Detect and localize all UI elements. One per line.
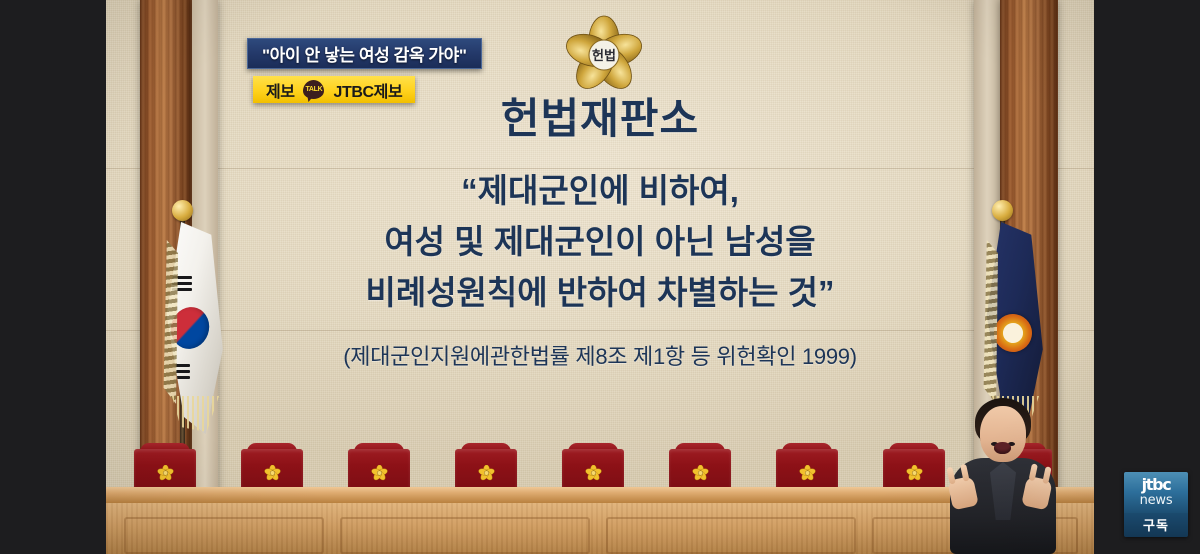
flag-finial	[992, 200, 1013, 221]
chair-emblem-icon	[371, 465, 388, 481]
sign-language-interpreter	[944, 392, 1062, 554]
tip-channel-name: JTBC제보	[333, 78, 402, 102]
flag-finial	[172, 200, 193, 221]
chair-emblem-icon	[478, 465, 495, 481]
constitutional-court-emblem-icon: 헌법	[561, 14, 647, 96]
emblem-label: 헌법	[592, 48, 616, 63]
subscribe-button[interactable]: jtbc news 구독	[1124, 472, 1188, 537]
subscribe-action-block[interactable]: 구독	[1124, 513, 1188, 537]
chair-emblem-icon	[692, 465, 709, 481]
jtbc-logo-text: jtbc	[1086, 30, 1094, 58]
kakaotalk-icon-label: TALK	[305, 86, 322, 93]
channel-bug: jtbc 뉴스룸	[1086, 30, 1094, 86]
broadcast-screenshot: 헌법 헌법재판소 “제대군인에 비하여, 여성 및 제대군인이 아닌 남성을 비…	[0, 0, 1200, 554]
court-citation: (제대군인지원에관한법률 제8조 제1항 등 위헌확인 1999)	[106, 339, 1094, 371]
chair-emblem-icon	[585, 465, 602, 481]
court-text-block: 헌법재판소 “제대군인에 비하여, 여성 및 제대군인이 아닌 남성을 비례성원…	[106, 96, 1094, 371]
program-name: 뉴스룸	[1086, 61, 1094, 86]
subscribe-brand-block: jtbc news	[1124, 472, 1188, 513]
court-flag-emblem	[990, 310, 1035, 355]
tip-label: 제보	[266, 78, 294, 102]
interpreter-mouth	[994, 442, 1011, 454]
video-frame: 헌법 헌법재판소 “제대군인에 비하여, 여성 및 제대군인이 아닌 남성을 비…	[106, 0, 1094, 554]
subscribe-jtbc-logo: jtbc	[1124, 477, 1188, 493]
headline-banner: "아이 안 낳는 여성 감옥 가야"	[247, 38, 482, 69]
court-quote-line-1: “제대군인에 비하여,	[106, 166, 1094, 217]
subscribe-section-label: news	[1124, 493, 1188, 509]
headline-text: "아이 안 낳는 여성 감옥 가야"	[262, 41, 467, 66]
court-quote-line-3: 비례성원칙에 반하여 차별하는 것”	[106, 268, 1094, 319]
chair-emblem-icon	[264, 465, 281, 481]
subscribe-action-label: 구독	[1124, 515, 1188, 534]
news-tip-banner[interactable]: 제보 TALK JTBC제보	[253, 76, 415, 103]
letterbox-left	[0, 0, 106, 554]
kakaotalk-icon: TALK	[303, 80, 324, 99]
letterbox-right	[1094, 0, 1200, 554]
chair-emblem-icon	[906, 465, 923, 481]
court-quote-line-2: 여성 및 제대군인이 아닌 남성을	[106, 217, 1094, 268]
chair-emblem-icon	[799, 465, 816, 481]
chair-emblem-icon	[157, 465, 174, 481]
